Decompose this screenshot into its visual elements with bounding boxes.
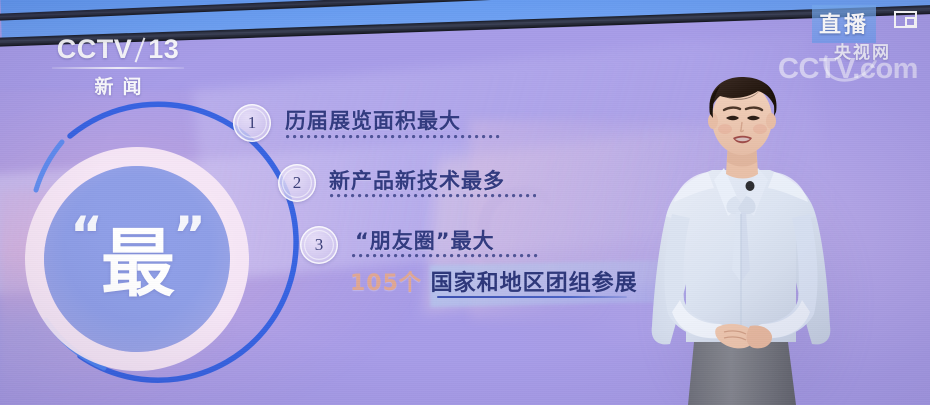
list-item-number-badge-1: 1 [233,104,271,142]
channel-logo-row-primary: CCTV 13 [48,34,188,65]
subline-text: 国家和地区团组参展 [431,271,638,296]
list-item-subline-3: 105个 国家和地区团组参展 [350,265,638,297]
subline-underline [437,296,627,298]
live-badge: 直播 [812,5,876,43]
badge-inner-ring [237,108,267,138]
list-item-number-badge-2: 2 [278,164,316,202]
list-item-dotted-rule-3 [352,254,538,258]
list-item-label-2: 新产品新技术最多 [329,165,505,195]
network-name: CCTV [57,34,133,65]
list-item-label-3: “朋友圈”最大 [355,225,495,255]
list-item-number-badge-3: 3 [300,226,338,264]
channel-name: 新闻 [48,72,188,99]
badge-inner-ring [304,230,334,260]
list-item-label-1: 历届展览面积最大 [285,105,461,135]
picture-in-picture-icon[interactable] [893,10,918,29]
list-item-dotted-rule-2 [330,194,536,198]
channel-number: 13 [148,34,179,65]
logo-rule [52,67,184,69]
subline-count: 105个 [350,271,422,296]
channel-logo: CCTV 13 新闻 [48,34,188,99]
news-anchor [628,74,878,405]
broadcast-frame: C “最” 1 历届展览面积最大 [0,0,930,405]
list-item-dotted-rule-1 [286,135,500,139]
logo-divider-icon [135,37,146,62]
badge-inner-ring [282,168,312,198]
